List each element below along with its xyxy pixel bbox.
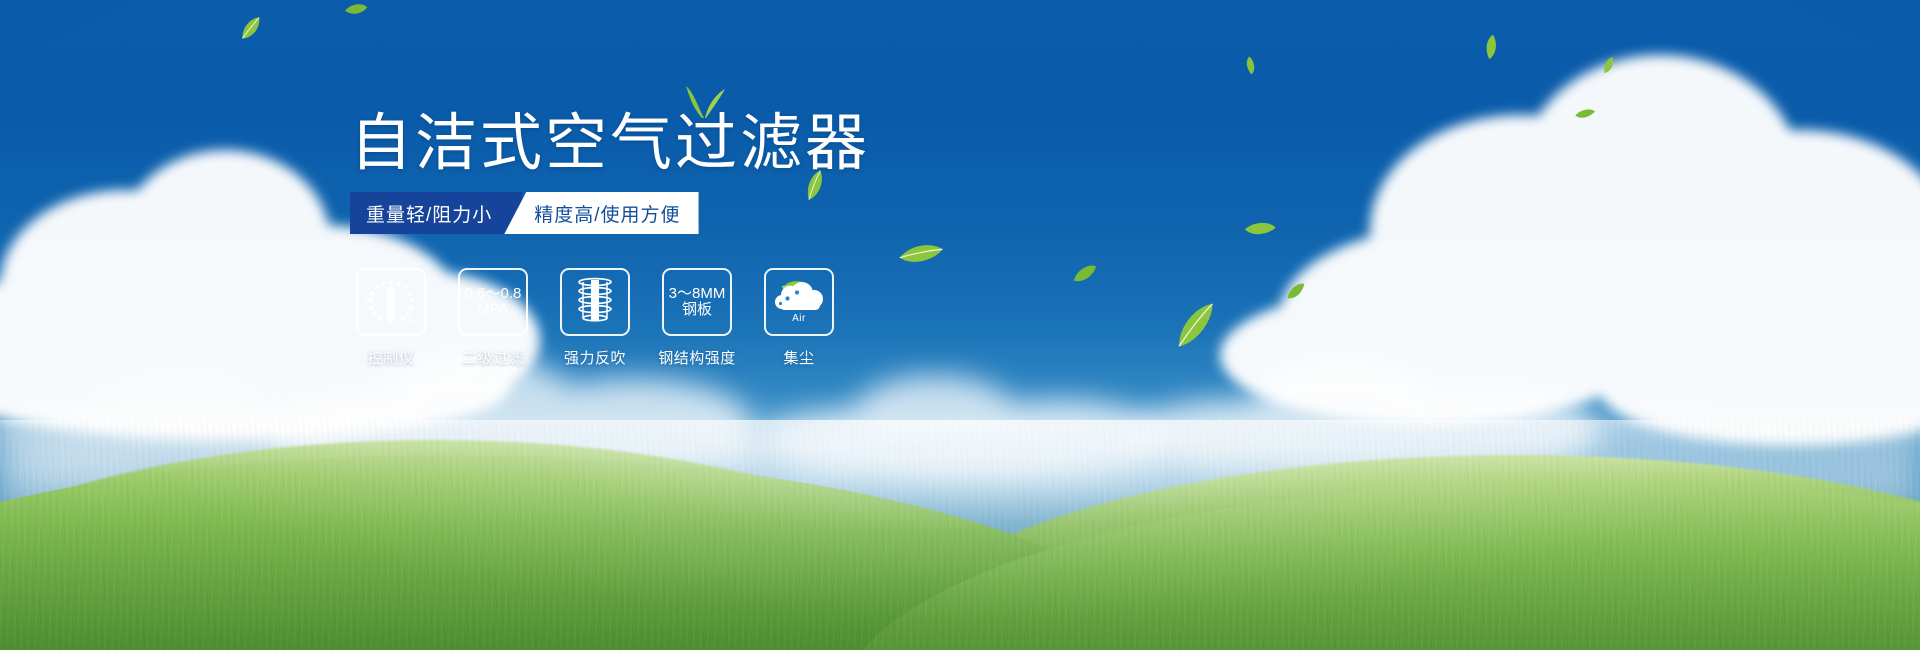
feature-item-steel[interactable]: 3〜8MM 钢板 钢结构强度: [658, 268, 736, 368]
pressure-line-2: MPA: [465, 302, 522, 318]
feature-caption-steel: 钢结构强度: [658, 347, 736, 368]
feature-box-pressure: 0.6〜0.8 MPA: [458, 268, 528, 336]
filter-cartridge-icon: [570, 275, 620, 330]
page-title: 自洁式空气过滤器: [350, 113, 870, 175]
feature-item-control[interactable]: NO OFF 控制仪: [352, 268, 430, 368]
feature-item-dust[interactable]: Air 集尘: [760, 268, 838, 368]
banner-content: 自洁式空气过滤器 重量轻/阻力小 精度高/使用方便: [0, 0, 1920, 650]
feature-icon-row: NO OFF 控制仪 0.6〜0.8 MPA 二级过滤: [352, 268, 838, 368]
feature-box-steel: 3〜8MM 钢板: [662, 268, 732, 336]
pressure-line-1: 0.6〜0.8: [465, 286, 522, 302]
feature-item-pressure[interactable]: 0.6〜0.8 MPA 二级过滤: [454, 268, 532, 368]
air-label: Air: [772, 313, 826, 324]
feature-caption-blowback: 强力反吹: [564, 347, 626, 368]
steel-line-1: 3〜8MM: [669, 286, 726, 302]
feature-box-control: NO OFF: [356, 268, 426, 336]
steel-line-2: 钢板: [669, 302, 726, 318]
feature-caption-control: 控制仪: [368, 347, 415, 368]
pill-lightweight[interactable]: 重量轻/阻力小: [350, 192, 522, 234]
cloud-air-icon: Air: [772, 280, 826, 324]
title-block: 自洁式空气过滤器: [350, 113, 870, 175]
feature-box-dust: Air: [764, 268, 834, 336]
title-leaf-icon: [680, 85, 726, 124]
steel-plate-text-icon: 3〜8MM 钢板: [669, 286, 726, 318]
pill-precision[interactable]: 精度高/使用方便: [504, 192, 698, 234]
dial-on-label: NO: [363, 298, 375, 305]
control-dial-icon: NO OFF: [364, 276, 418, 328]
dial-off-label: OFF: [405, 318, 421, 325]
pressure-text-icon: 0.6〜0.8 MPA: [465, 286, 522, 318]
feature-pill-group: 重量轻/阻力小 精度高/使用方便: [350, 192, 699, 234]
feature-caption-dust: 集尘: [783, 347, 814, 368]
banner-stage: 自洁式空气过滤器 重量轻/阻力小 精度高/使用方便: [0, 0, 1920, 650]
feature-box-blowback: [560, 268, 630, 336]
feature-item-blowback[interactable]: 强力反吹: [556, 268, 634, 368]
feature-caption-pressure: 二级过滤: [462, 347, 524, 368]
